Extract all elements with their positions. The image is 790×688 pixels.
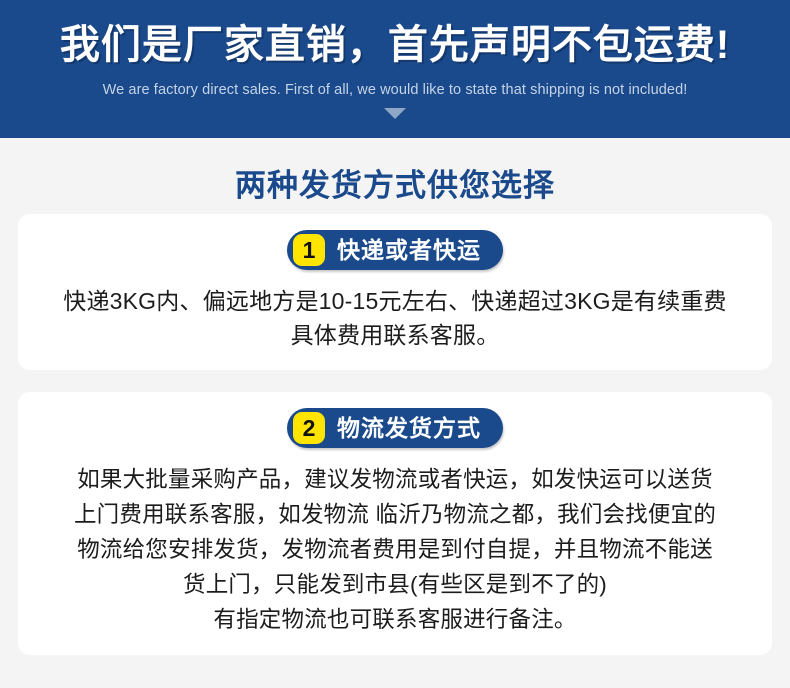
badge-row: 2 物流发货方式 (34, 408, 756, 448)
chevron-down-icon (384, 108, 406, 119)
badge-label-1: 快递或者快运 (337, 235, 481, 265)
shipping-option-card-1: 1 快递或者快运 快递3KG内、偏远地方是10-15元左右、快递超过3KG是有续… (18, 214, 772, 370)
option-badge-1: 1 快递或者快运 (287, 230, 503, 270)
banner-subtitle: We are factory direct sales. First of al… (0, 70, 790, 100)
badge-row: 1 快递或者快运 (34, 230, 756, 270)
card-2-line-5: 有指定物流也可联系客服进行备注。 (34, 602, 756, 637)
card-2-line-3: 物流给您安排发货，发物流者费用是到付自提，并且物流不能送 (34, 532, 756, 567)
shipping-option-card-2: 2 物流发货方式 如果大批量采购产品，建议发物流或者快运，如发快运可以送货 上门… (18, 392, 772, 655)
card-2-line-4: 货上门，只能发到市县(有些区是到不了的) (34, 567, 756, 602)
badge-number-1: 1 (293, 234, 325, 266)
promo-banner: 我们是厂家直销，首先声明不包运费! We are factory direct … (0, 0, 790, 138)
card-1-line-2: 具体费用联系客服。 (34, 318, 756, 352)
option-badge-2: 2 物流发货方式 (287, 408, 503, 448)
card-2-line-1: 如果大批量采购产品，建议发物流或者快运，如发快运可以送货 (34, 462, 756, 497)
banner-title: 我们是厂家直销，首先声明不包运费! (0, 0, 790, 70)
card-2-line-2: 上门费用联系客服，如发物流 临沂乃物流之都，我们会找便宜的 (34, 497, 756, 532)
section-heading: 两种发货方式供您选择 (0, 138, 790, 214)
badge-number-2: 2 (293, 412, 325, 444)
badge-label-2: 物流发货方式 (337, 413, 481, 443)
card-1-line-1: 快递3KG内、偏远地方是10-15元左右、快递超过3KG是有续重费 (34, 284, 756, 318)
